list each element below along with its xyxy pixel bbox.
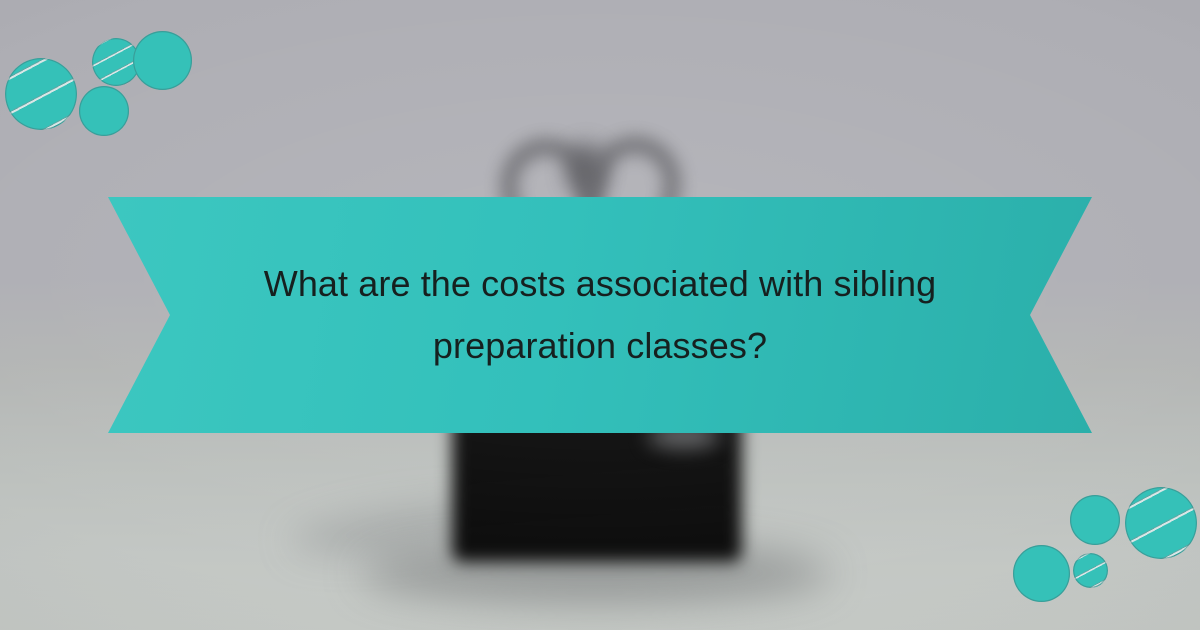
- question-ribbon: What are the costs associated with sibli…: [108, 197, 1092, 433]
- circle-striped-large-icon: [1125, 487, 1197, 559]
- circle-plain-small-icon: [1070, 495, 1120, 545]
- circle-plain-medium-icon: [133, 31, 192, 90]
- circle-striped-large-icon: [5, 58, 77, 130]
- question-text: What are the costs associated with sibli…: [220, 253, 980, 377]
- circle-plain-medium-icon: [1013, 545, 1070, 602]
- circle-striped-small-icon: [1073, 553, 1108, 588]
- social-card: What are the costs associated with sibli…: [0, 0, 1200, 630]
- circle-plain-small-icon: [79, 86, 129, 136]
